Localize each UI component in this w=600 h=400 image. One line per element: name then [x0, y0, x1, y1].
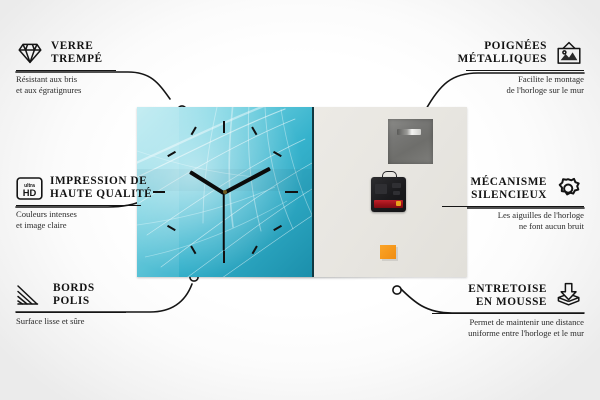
clock-mechanism [371, 177, 406, 212]
second-hand [223, 193, 225, 251]
mechanism-detail [392, 183, 401, 188]
feature-title: TREMPÉ [51, 53, 103, 66]
feature-bords-polis[interactable]: BORDS POLIS Surface lisse et sûre [16, 282, 126, 327]
clock-face [137, 107, 314, 277]
diamond-icon [16, 41, 44, 65]
feature-title: ENTRETOISE [468, 283, 547, 296]
feature-title: HAUTE QUALITÉ [50, 188, 152, 201]
infographic-canvas: VERRE TREMPÉ Résistant aux bris et aux é… [0, 0, 600, 400]
feature-subtitle: de l'horloge sur le mur [458, 85, 584, 96]
metal-hanger-plate [388, 119, 433, 164]
feature-subtitle: Les aiguilles de l'horloge [442, 210, 584, 221]
mechanism-detail [375, 184, 387, 194]
foam-spacer [380, 245, 396, 259]
feature-rule [466, 70, 584, 71]
marker-entretoise [393, 286, 401, 294]
feature-title: MÉCANISME [471, 176, 548, 189]
polished-edges-icon [16, 284, 46, 307]
feature-title: POLIS [53, 295, 95, 308]
feature-title: BORDS [53, 282, 95, 295]
feature-verre-trempe[interactable]: VERRE TREMPÉ Résistant aux bris et aux é… [16, 40, 116, 95]
gear-icon [554, 175, 584, 203]
feature-subtitle: et image claire [16, 220, 152, 231]
feature-subtitle: et aux égratignures [16, 85, 116, 96]
feature-title: SILENCIEUX [471, 189, 548, 202]
feature-rule [16, 312, 126, 313]
hand-pivot [223, 190, 227, 194]
feature-mecanisme-silencieux[interactable]: MÉCANISME SILENCIEUX Les aiguilles de l'… [442, 175, 584, 231]
battery-terminal [396, 201, 401, 206]
feature-rule [16, 70, 116, 71]
svg-text:HD: HD [23, 187, 37, 198]
feature-rule [442, 206, 584, 207]
feature-impression-haute-qualite[interactable]: ultra HD IMPRESSION DE HAUTE QUALITÉ Cou… [16, 175, 152, 230]
picture-frame-hanging-icon [554, 40, 584, 66]
feature-rule [432, 313, 584, 314]
feature-title: MÉTALLIQUES [458, 53, 547, 66]
feature-subtitle: uniforme entre l'horloge et le mur [432, 328, 584, 339]
battery [374, 200, 403, 208]
feature-subtitle: Couleurs intenses [16, 209, 152, 220]
feature-subtitle: Facilite le montage [458, 74, 584, 85]
feature-title: POIGNÉES [458, 40, 547, 53]
mechanism-hanger-loop [382, 171, 397, 180]
feature-title: EN MOUSSE [468, 296, 547, 309]
mechanism-detail [393, 191, 400, 195]
feature-title: VERRE [51, 40, 103, 53]
tick-mark [223, 251, 225, 263]
feature-subtitle: Permet de maintenir une distance [432, 317, 584, 328]
feature-subtitle: Résistant aux bris [16, 74, 116, 85]
product-image [137, 107, 467, 279]
tick-mark [153, 191, 165, 193]
ultra-hd-icon: ultra HD [16, 176, 43, 201]
feature-subtitle: Surface lisse et sûre [16, 316, 126, 327]
feature-title: IMPRESSION DE [50, 175, 152, 188]
tick-mark [285, 191, 298, 193]
feature-rule [16, 205, 141, 206]
feature-poignees-metalliques[interactable]: POIGNÉES MÉTALLIQUES Facilite le montage… [458, 40, 584, 95]
hanger-keyhole [397, 129, 421, 135]
foam-spacer-arrow-icon [554, 282, 584, 310]
tick-mark [223, 121, 225, 133]
feature-entretoise-en-mousse[interactable]: ENTRETOISE EN MOUSSE Permet de maintenir… [432, 282, 584, 338]
feature-subtitle: ne font aucun bruit [442, 221, 584, 232]
